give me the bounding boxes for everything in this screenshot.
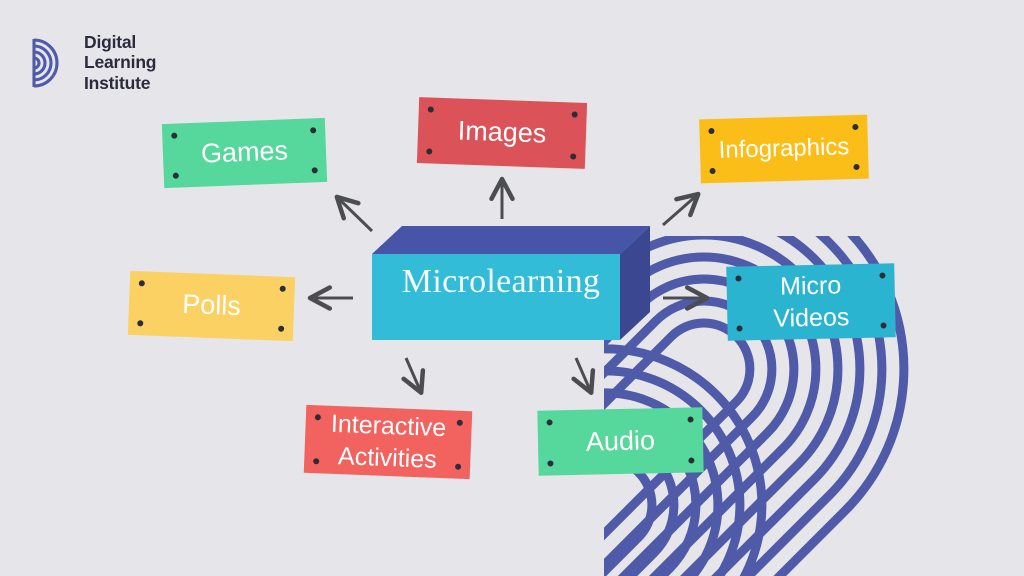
node-label: Micro Videos	[760, 269, 861, 335]
corner-dot	[688, 457, 694, 463]
corner-dot	[736, 325, 742, 331]
corner-dot	[312, 167, 318, 173]
node-polls[interactable]: Polls	[128, 271, 295, 341]
corner-dot	[570, 153, 576, 159]
concentric-arcs-logo-icon	[26, 36, 74, 90]
center-node-microlearning[interactable]: Microlearning	[372, 222, 650, 344]
corner-dot	[853, 164, 859, 170]
corner-dot	[572, 111, 578, 117]
corner-dot	[310, 127, 316, 133]
corner-dot	[426, 148, 432, 154]
node-label: Interactive Activities	[317, 407, 459, 476]
corner-dot	[428, 106, 434, 112]
node-audio[interactable]: Audio	[537, 407, 703, 475]
node-label: Polls	[170, 288, 254, 323]
corner-dot	[710, 168, 716, 174]
corner-dot	[880, 322, 886, 328]
corner-dot	[171, 133, 177, 139]
box-top-face	[372, 226, 650, 254]
node-label: Games	[188, 135, 300, 171]
corner-dot	[280, 286, 286, 292]
arrow-down-right	[576, 358, 590, 390]
corner-dot	[139, 280, 145, 286]
center-node-label: Microlearning	[372, 260, 630, 304]
node-games[interactable]: Games	[162, 118, 327, 188]
corner-dot	[173, 173, 179, 179]
brand-name: Digital Learning Institute	[84, 32, 156, 93]
corner-dot	[687, 416, 693, 422]
node-images[interactable]: Images	[417, 97, 587, 169]
node-interactive-activities[interactable]: Interactive Activities	[304, 405, 472, 479]
corner-dot	[708, 128, 714, 134]
node-micro-videos[interactable]: Micro Videos	[726, 263, 896, 341]
corner-dot	[852, 124, 858, 130]
arrow-down-left	[406, 358, 420, 390]
corner-dot	[735, 275, 741, 281]
node-label: Infographics	[706, 133, 861, 166]
corner-dot	[547, 460, 553, 466]
arrow-up-left	[339, 199, 372, 231]
arrow-up-right	[663, 196, 696, 225]
slide-canvas: Digital Learning Institute Micro	[0, 0, 1024, 576]
corner-dot	[278, 326, 284, 332]
corner-dot	[547, 419, 553, 425]
node-label: Images	[445, 115, 559, 151]
corner-dot	[137, 320, 143, 326]
brand-logo: Digital Learning Institute	[26, 32, 156, 93]
node-label: Audio	[574, 425, 668, 459]
node-infographics[interactable]: Infographics	[699, 115, 869, 184]
corner-dot	[879, 272, 885, 278]
